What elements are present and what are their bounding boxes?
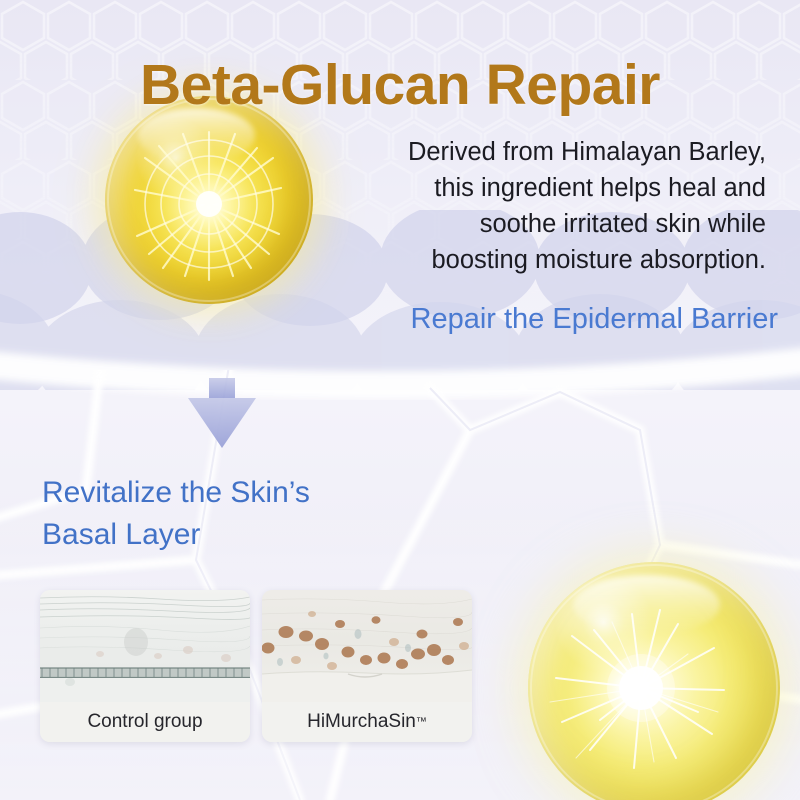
intro-line: this ingredient helps heal and xyxy=(330,170,766,206)
comparison-panels: Control group xyxy=(40,590,472,742)
micrograph-himurchasin-image xyxy=(262,590,472,702)
panel-caption-himurchasin: HiMurchaSin™ xyxy=(262,702,472,742)
comparison-panel-control: Control group xyxy=(40,590,250,742)
basal-heading-line-2: Basal Layer xyxy=(42,514,462,556)
epidermal-barrier-heading: Repair the Epidermal Barrier xyxy=(0,303,778,336)
intro-line: boosting moisture absorption. xyxy=(330,242,766,278)
epidermal-boundary-band xyxy=(0,330,800,400)
page-title: Beta-Glucan Repair xyxy=(0,52,800,118)
intro-line: soothe irritated skin while xyxy=(330,206,766,242)
beta-glucan-sphere-icon xyxy=(105,96,313,304)
panel-caption-text: Control group xyxy=(87,711,202,733)
trademark-symbol: ™ xyxy=(416,716,427,728)
panel-caption-text: HiMurchaSin xyxy=(307,711,416,733)
intro-paragraph: Derived from Himalayan Barley, this ingr… xyxy=(330,134,766,278)
intro-line: Derived from Himalayan Barley, xyxy=(330,134,766,170)
arrow-down-icon xyxy=(182,378,262,458)
infographic-canvas: Beta-Glucan Repair Derived from Himalaya… xyxy=(0,0,800,800)
comparison-panel-himurchasin: HiMurchaSin™ xyxy=(262,590,472,742)
basal-layer-heading: Revitalize the Skin’s Basal Layer xyxy=(42,472,462,556)
panel-caption-control: Control group xyxy=(40,702,250,742)
sphere-rim xyxy=(107,98,311,302)
basal-heading-line-1: Revitalize the Skin’s xyxy=(42,472,462,514)
micrograph-control-image xyxy=(40,590,250,702)
beta-glucan-sphere-icon xyxy=(528,562,780,800)
sphere-rim xyxy=(530,564,778,800)
